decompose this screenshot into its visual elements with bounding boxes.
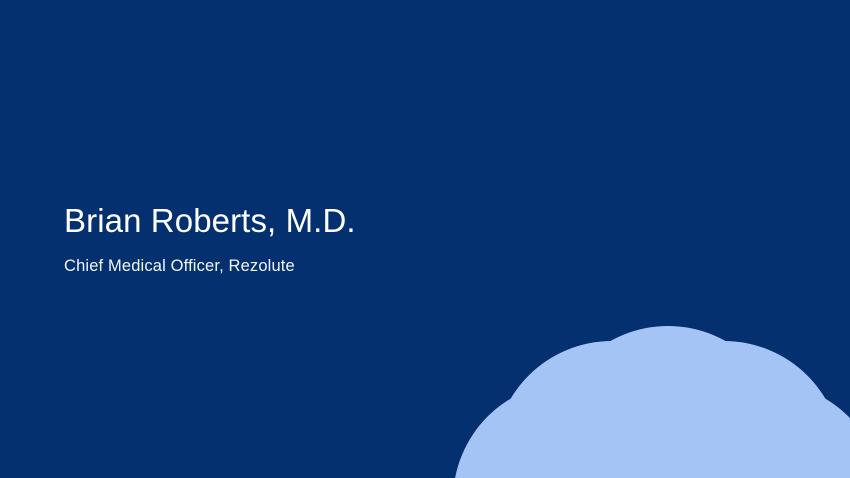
slide-canvas: Brian Roberts, M.D. Chief Medical Office…	[0, 0, 850, 478]
rosette-circles	[438, 326, 850, 478]
speaker-name: Brian Roberts, M.D.	[64, 203, 356, 240]
speaker-text-block: Brian Roberts, M.D. Chief Medical Office…	[64, 203, 356, 277]
speaker-title: Chief Medical Officer, Rezolute	[64, 240, 356, 277]
